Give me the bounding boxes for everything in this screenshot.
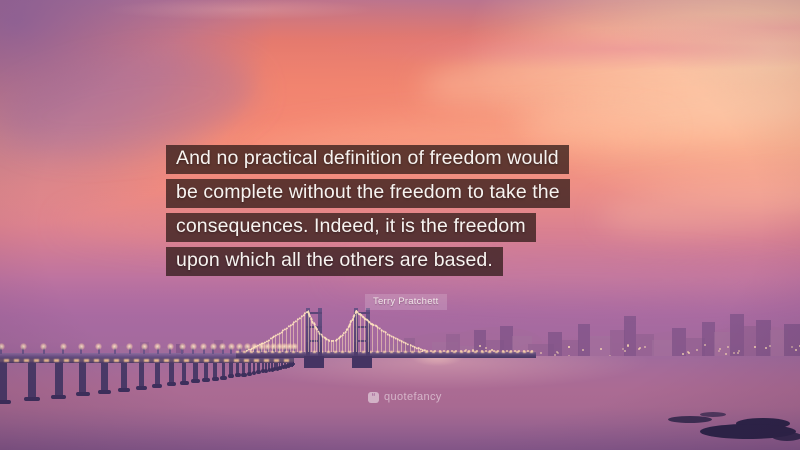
bridge-approach-light	[447, 350, 449, 352]
viaduct-pier-base	[136, 386, 147, 390]
bridge-hanger-cable	[333, 340, 334, 352]
quote-mark-icon: “	[368, 392, 379, 403]
lamp-glow	[228, 343, 235, 350]
bridge-hanger-cable	[414, 346, 415, 352]
bridge-hanger-cable	[360, 313, 361, 352]
viaduct-pier-base	[51, 395, 66, 399]
bridge-hanger-cable	[257, 345, 258, 352]
rock-outcrop	[772, 432, 800, 441]
viaduct-pier-base	[202, 378, 210, 382]
bridge-hanger-cable	[339, 337, 340, 352]
lamp-glow	[95, 343, 102, 350]
bridge-deck-lights	[236, 351, 536, 353]
viaduct-pier-base	[152, 384, 162, 388]
shore-light	[754, 346, 756, 348]
lamp-glow	[40, 343, 47, 350]
bridge-hanger-cable	[348, 327, 349, 352]
bridge-approach-light	[485, 350, 487, 352]
viaduct-pier	[121, 363, 127, 391]
viaduct-pier-base	[180, 381, 189, 385]
bridge-approach-light	[481, 350, 483, 352]
quote-line: And no practical definition of freedom w…	[166, 145, 569, 174]
bridge-hanger-cable	[418, 347, 419, 352]
lamp-glow	[200, 343, 207, 350]
bridge-approach-light	[502, 350, 504, 352]
viaduct-pier-base	[0, 400, 11, 404]
bridge-approach-light	[527, 350, 529, 352]
shore-light	[540, 352, 542, 354]
shore-light	[725, 353, 727, 355]
viaduct-pier-base	[241, 373, 246, 377]
lamp-glow	[126, 343, 133, 350]
shore-light	[737, 352, 739, 354]
bridge-hanger-cable	[275, 335, 276, 352]
bridge-hanger-cable	[268, 340, 269, 352]
viaduct-pier	[28, 363, 36, 400]
shore-light	[765, 347, 767, 349]
quote-attribution: Terry Pratchett	[365, 291, 447, 310]
bridge-hanger-cable	[261, 343, 262, 352]
bridge-hanger-cable	[301, 316, 302, 352]
bridge-hanger-cable	[364, 317, 365, 352]
bridge-hanger-cable	[246, 350, 247, 352]
bridge-hanger-cable	[368, 320, 369, 352]
lamp-glow	[154, 343, 161, 350]
viaduct-pier-base	[235, 373, 241, 377]
viaduct-pier	[55, 363, 63, 398]
shore-light	[696, 349, 698, 351]
bridge-hanger-cable	[336, 339, 337, 352]
viaduct-pier-base	[98, 390, 111, 394]
bridge-approach-light	[506, 350, 508, 352]
viaduct-pier-base	[76, 392, 90, 396]
viaduct-pier-base	[118, 388, 130, 392]
bridge-approach-light	[439, 350, 441, 352]
viaduct-pier-base	[212, 377, 219, 381]
bridge-approach-light	[464, 350, 466, 352]
brand-name: quotefancy	[384, 391, 442, 403]
bridge-hanger-cable	[356, 310, 357, 352]
shore-light	[557, 352, 559, 354]
bridge-hanger-cable	[342, 335, 343, 352]
bridge-approach-light	[443, 350, 445, 352]
bridge-hanger-cable	[377, 326, 378, 352]
viaduct-pier	[79, 363, 86, 395]
bridge-hanger-cable	[304, 313, 305, 352]
shore-light	[568, 346, 570, 348]
bridge-hanger-cable	[286, 328, 287, 352]
lamp-glow	[179, 343, 186, 350]
quote-line: upon which all the others are based.	[166, 247, 503, 276]
skyline-building	[756, 320, 771, 360]
bridge-hanger-cable	[297, 319, 298, 352]
lamp-glow	[210, 343, 217, 350]
quote-line: consequences. Indeed, it is the freedom	[166, 213, 536, 242]
bridge-approach-light	[489, 350, 491, 352]
skyline-building	[624, 316, 636, 360]
viaduct-pier-base	[24, 397, 40, 401]
bridge-hanger-cable	[290, 325, 291, 352]
shore-light	[769, 345, 771, 347]
bridge-tower-pier	[352, 356, 372, 368]
quote-text-block: And no practical definition of freedom w…	[166, 145, 646, 281]
bridge-approach-light	[523, 350, 525, 352]
author-name: Terry Pratchett	[365, 294, 447, 310]
bridge-hanger-cable	[353, 317, 354, 352]
lamp-glow	[0, 343, 5, 350]
lamp-glow	[219, 343, 226, 350]
bridge-hanger-cable	[410, 344, 411, 352]
viaduct-pier-base	[228, 374, 234, 378]
bridge-hanger-cable	[264, 342, 265, 352]
viaduct-pier-base	[191, 379, 199, 383]
brand-watermark: “ quotefancy	[368, 391, 442, 403]
shore-light	[687, 351, 689, 353]
suspension-bridge	[236, 306, 536, 372]
bridge-hanger-cable	[282, 330, 283, 352]
shore-light	[624, 350, 626, 352]
bridge-hanger-cable	[350, 322, 351, 352]
skyline-building	[784, 324, 800, 360]
bridge-hanger-cable	[253, 347, 254, 352]
shore-light	[582, 349, 584, 351]
bridge-hanger-cable	[381, 329, 382, 352]
bridge-hanger-cable	[293, 322, 294, 352]
bridge-hanger-cable	[331, 340, 332, 352]
lamp-glow	[78, 343, 85, 350]
viaduct-pier	[101, 363, 108, 393]
lamp-glow	[20, 343, 27, 350]
skyline-building	[744, 326, 756, 360]
skyline-building	[578, 324, 590, 360]
shore-light	[622, 348, 624, 350]
bridge-approach-light	[460, 350, 462, 352]
bridge-approach-light	[468, 350, 470, 352]
rock-outcrop	[700, 412, 726, 417]
shore-light	[627, 345, 629, 347]
bridge-approach-light	[531, 350, 533, 352]
quote-line: be complete without the freedom to take …	[166, 179, 570, 208]
viaduct-pier-base	[220, 376, 227, 380]
bridge-hanger-cable	[345, 332, 346, 352]
viaduct-pier-base	[167, 382, 177, 386]
lamp-glow	[190, 343, 197, 350]
lamp-glow	[167, 343, 174, 350]
lamp-glow	[60, 343, 67, 350]
bridge-approach-light	[426, 350, 428, 352]
bridge-hanger-cable	[372, 323, 373, 352]
wallpaper-canvas: And no practical definition of freedom w…	[0, 0, 800, 450]
water-sheen	[0, 0, 800, 94]
bridge-hanger-cable	[279, 333, 280, 352]
bridge-tower-pier	[304, 356, 324, 368]
lamp-glow	[141, 343, 148, 350]
viaduct-pier	[0, 363, 7, 403]
lamp-glow	[111, 343, 118, 350]
bridge-approach-light	[510, 350, 512, 352]
rock-outcrop	[668, 416, 712, 423]
bridge-hanger-cable	[272, 337, 273, 352]
